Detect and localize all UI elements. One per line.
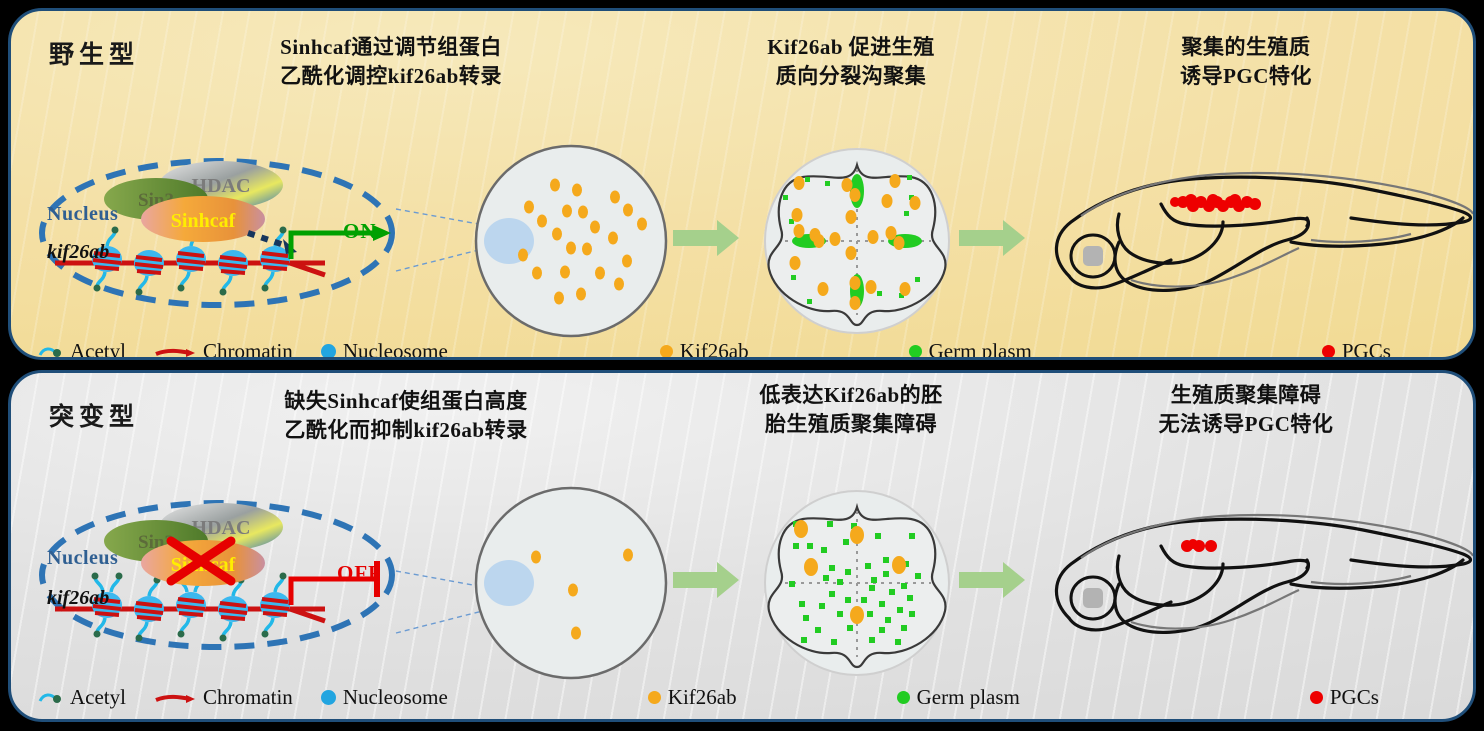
heading-wildtype-aggregation: Kif26ab 促进生殖 质向分裂沟聚集	[711, 33, 991, 91]
legend-label-chromatin: Chromatin	[203, 685, 293, 710]
legend-item-pgcs: PGCs	[1310, 685, 1379, 710]
arrow-wildtype-1	[671, 216, 743, 266]
legend-item-nucleosome: Nucleosome	[321, 685, 448, 710]
legend-label-pgcs: PGCs	[1330, 685, 1379, 710]
embryo-diagram-mutant	[759, 485, 955, 681]
legend-item-germ-plasm: Germ plasm	[909, 339, 1032, 360]
legend-item-kif26ab: Kif26ab	[660, 339, 749, 360]
pgc-dots-mutant	[1181, 539, 1217, 552]
legend-label-acetyl: Acetyl	[70, 339, 126, 360]
legend-item-chromatin: Chromatin	[154, 339, 293, 360]
genotype-label-mutant: 突变型	[49, 397, 139, 433]
nucleus-label-mutant: Nucleus	[47, 547, 118, 570]
germ-plasm-dot-icon	[897, 691, 910, 704]
heading-mutant-aggregation: 低表达Kif26ab的胚 胎生殖质聚集障碍	[706, 381, 996, 439]
eye-icon	[1071, 235, 1115, 277]
nucleus-label-wildtype: Nucleus	[47, 203, 118, 226]
genotype-label-wildtype: 野生型	[49, 35, 139, 71]
legend-label-kif26ab: Kif26ab	[668, 685, 737, 710]
cell-diagram-wildtype	[473, 143, 669, 339]
legend-item-kif26ab: Kif26ab	[648, 685, 737, 710]
acetyl-mark-icon	[37, 344, 63, 360]
larva-diagram-mutant	[1011, 498, 1476, 663]
arrow-mutant-1	[671, 558, 743, 608]
repressor-complex-wildtype: HDAC Sin3 Sinhcaf	[104, 161, 283, 242]
legend-label-germ-plasm: Germ plasm	[929, 339, 1032, 360]
legend-item-acetyl: Acetyl	[37, 685, 126, 710]
chromatin-line-icon	[154, 345, 196, 359]
legend-wildtype: Acetyl Chromatin Nucleosome Kif26ab	[37, 339, 1391, 360]
cell-diagram-mutant	[473, 485, 669, 681]
legend-label-kif26ab: Kif26ab	[680, 339, 749, 360]
gene-label-mutant: kif26ab	[47, 587, 109, 610]
legend-item-nucleosome: Nucleosome	[321, 339, 448, 360]
legend-mutant: Acetyl Chromatin Nucleosome Kif26ab	[37, 685, 1379, 710]
eye-icon	[1071, 577, 1115, 619]
pgc-dot-icon	[1310, 691, 1323, 704]
kif26ab-dot-icon	[660, 345, 673, 358]
acetyl-mark-icon	[37, 690, 63, 706]
figure-canvas: 野生型 Sinhcaf通过调节组蛋白 乙酰化调控kif26ab转录 Kif26a…	[0, 0, 1484, 731]
panel-mutant: 突变型 缺失Sinhcaf使组蛋白高度 乙酰化而抑制kif26ab转录 低表达K…	[8, 370, 1476, 722]
heading-wildtype-pgc: 聚集的生殖质 诱导PGC特化	[1116, 33, 1376, 91]
nucleus-diagram-wildtype: HDAC Sin3 Sinhcaf Nucleus kif26a	[25, 151, 425, 316]
legend-label-nucleosome: Nucleosome	[343, 339, 448, 360]
panel-wildtype: 野生型 Sinhcaf通过调节组蛋白 乙酰化调控kif26ab转录 Kif26a…	[8, 8, 1476, 360]
nucleus-diagram-mutant: HDAC Sin3 Sinhcaf Nucleus kif26ab OFF	[25, 493, 425, 658]
kif26ab-dot-icon	[648, 691, 661, 704]
transcription-state-wildtype: ON	[343, 219, 377, 244]
legend-label-chromatin: Chromatin	[203, 339, 293, 360]
germ-plasm-dot-icon	[909, 345, 922, 358]
nucleosome-dot-icon	[321, 690, 336, 705]
legend-item-chromatin: Chromatin	[154, 685, 293, 710]
heading-mutant-transcription: 缺失Sinhcaf使组蛋白高度 乙酰化而抑制kif26ab转录	[226, 387, 586, 445]
cell-nucleus-icon	[484, 560, 534, 606]
embryo-diagram-wildtype	[759, 143, 955, 339]
larva-diagram-wildtype	[1011, 156, 1476, 321]
gene-label-wildtype: kif26ab	[47, 241, 109, 264]
sinhcaf-label: Sinhcaf	[171, 210, 236, 232]
heading-wildtype-transcription: Sinhcaf通过调节组蛋白 乙酰化调控kif26ab转录	[226, 33, 556, 91]
nucleosome-dot-icon	[321, 344, 336, 359]
legend-item-germ-plasm: Germ plasm	[897, 685, 1020, 710]
heading-mutant-pgc: 生殖质聚集障碍 无法诱导PGC特化	[1106, 381, 1386, 439]
legend-label-pgcs: PGCs	[1342, 339, 1391, 360]
pgc-dot-icon	[1322, 345, 1335, 358]
legend-item-acetyl: Acetyl	[37, 339, 126, 360]
legend-label-acetyl: Acetyl	[70, 685, 126, 710]
chromatin-line-icon	[154, 691, 196, 705]
legend-label-germ-plasm: Germ plasm	[917, 685, 1020, 710]
pgc-dots-wildtype	[1170, 194, 1261, 212]
legend-label-nucleosome: Nucleosome	[343, 685, 448, 710]
transcription-state-mutant: OFF	[337, 561, 382, 586]
legend-item-pgcs: PGCs	[1322, 339, 1391, 360]
repressor-complex-mutant: HDAC Sin3 Sinhcaf	[104, 503, 283, 586]
